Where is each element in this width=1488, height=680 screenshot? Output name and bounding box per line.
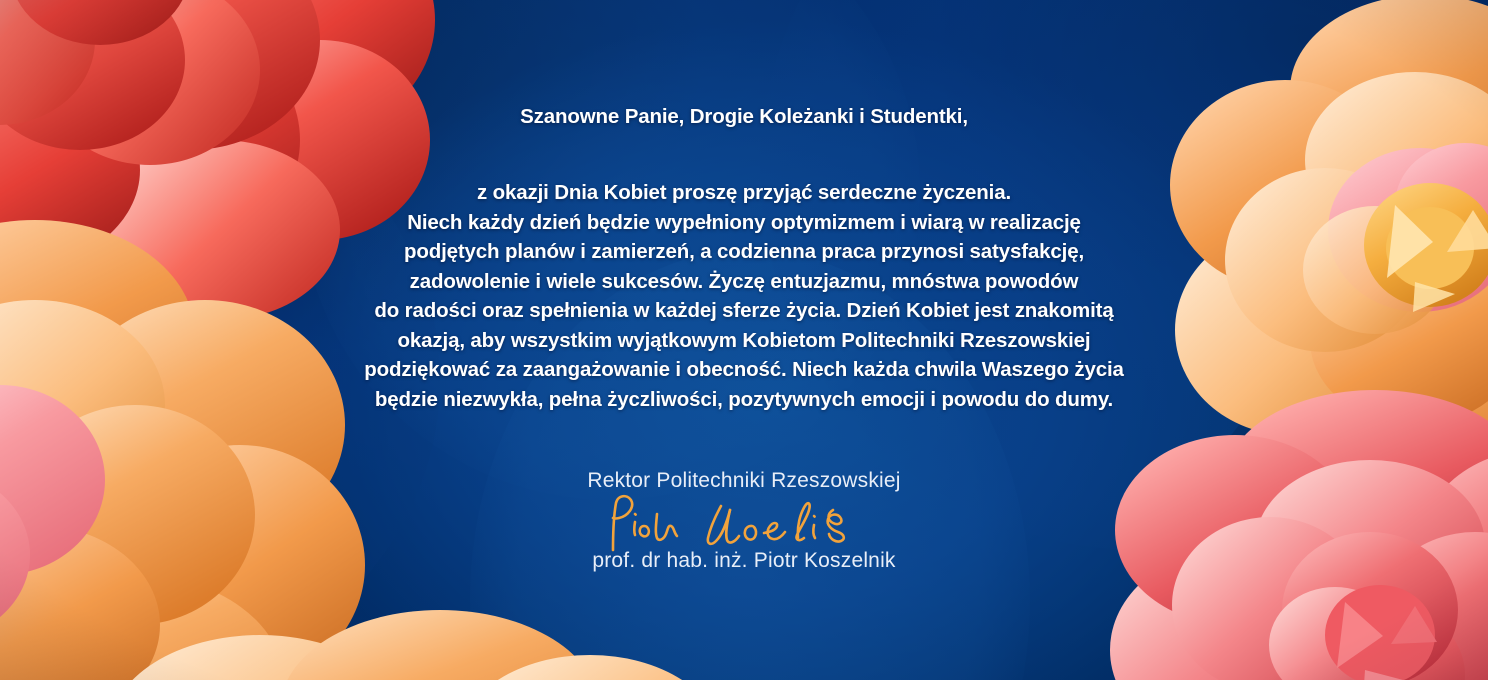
signature-handwritten-icon <box>594 492 894 554</box>
message-line: będzie niezwykła, pełna życzliwości, poz… <box>0 385 1488 415</box>
message-line: z okazji Dnia Kobiet proszę przyjąć serd… <box>0 178 1488 208</box>
signature-name: prof. dr hab. inż. Piotr Koszelnik <box>0 548 1488 574</box>
womens-day-greeting-card: Szanowne Panie, Drogie Koleżanki i Stude… <box>0 0 1488 680</box>
message-body: z okazji Dnia Kobiet proszę przyjąć serd… <box>0 178 1488 414</box>
signature-block: Rektor Politechniki Rzeszowskiej <box>0 468 1488 574</box>
message-line: podjętych planów i zamierzeń, a codzienn… <box>0 237 1488 267</box>
message-line: do radości oraz spełnienia w każdej sfer… <box>0 296 1488 326</box>
message-line: okazją, aby wszystkim wyjątkowym Kobieto… <box>0 326 1488 356</box>
message-line: Niech każdy dzień będzie wypełniony opty… <box>0 208 1488 238</box>
signature-role: Rektor Politechniki Rzeszowskiej <box>0 468 1488 494</box>
greeting-heading: Szanowne Panie, Drogie Koleżanki i Stude… <box>0 105 1488 129</box>
message-line: podziękować za zaangażowanie i obecność.… <box>0 355 1488 385</box>
message-line: zadowolenie i wiele sukcesów. Życzę entu… <box>0 267 1488 297</box>
